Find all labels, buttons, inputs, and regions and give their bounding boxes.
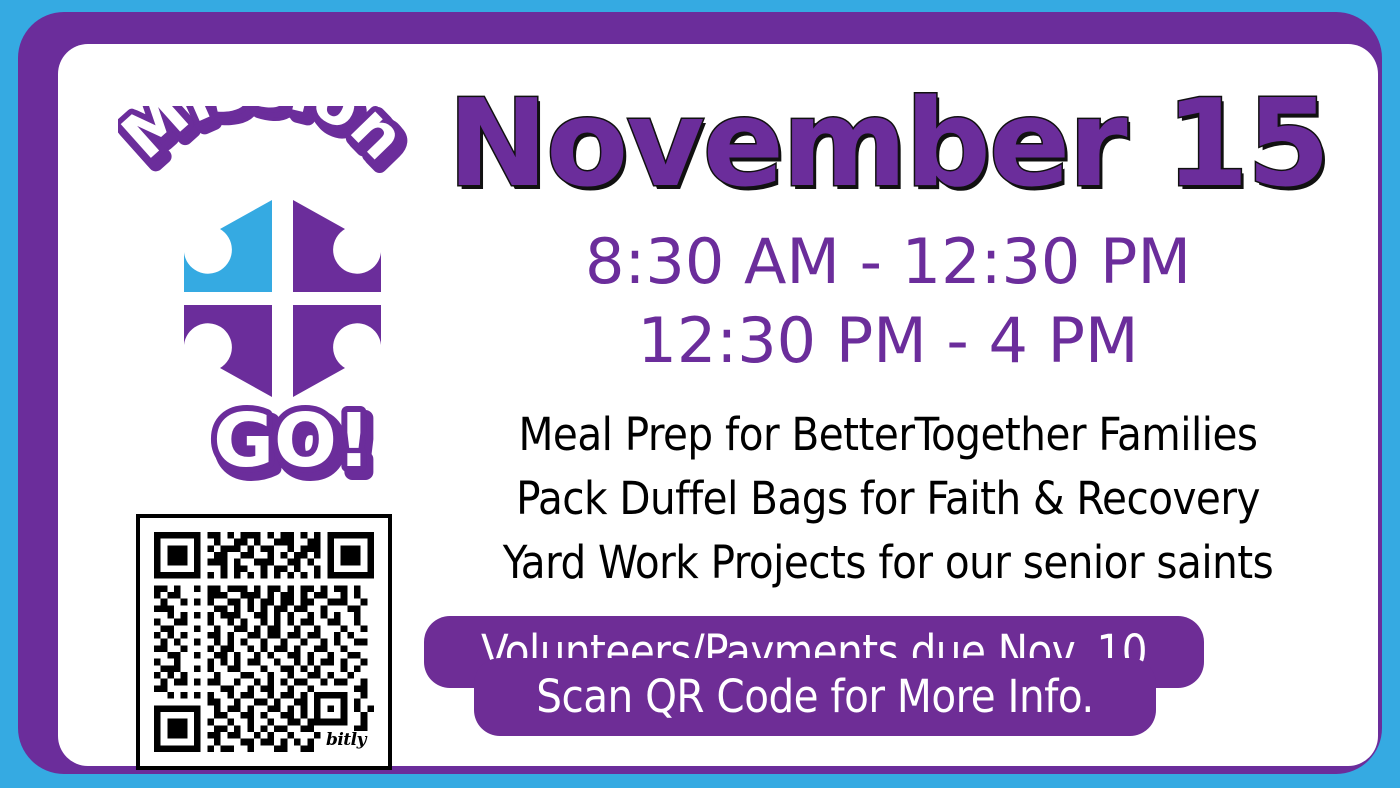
white-card: Mission Mission Mission <box>58 44 1378 766</box>
right-column: November 15 8:30 AM - 12:30 PM 12:30 PM … <box>408 82 1368 782</box>
banner-bar-bottom: Scan QR Code for More Info. <box>474 658 1156 736</box>
session-time-1: 8:30 AM - 12:30 PM <box>408 222 1368 301</box>
svg-text:Mission: Mission <box>118 106 408 173</box>
cross-arrows-icon <box>180 196 385 401</box>
activity-list: Meal Prep for BetterTogether Families Pa… <box>408 403 1368 596</box>
list-item: Meal Prep for BetterTogether Families <box>408 403 1368 467</box>
mission-go-logo: Mission Mission Mission <box>110 96 410 476</box>
flyer-canvas: Mission Mission Mission <box>0 0 1400 788</box>
qr-code[interactable]: bitly <box>136 514 392 770</box>
bitly-label: bitly <box>324 731 368 750</box>
session-time-2: 12:30 PM - 4 PM <box>408 301 1368 380</box>
callout-banner: Volunteers/Payments due Nov. 10 Scan QR … <box>408 616 1368 746</box>
purple-frame: Mission Mission Mission <box>18 12 1382 774</box>
banner-line-2: Scan QR Code for More Info. <box>536 674 1093 719</box>
list-item: Pack Duffel Bags for Faith & Recovery <box>408 467 1368 531</box>
go-wordmark: GO! GO! <box>202 394 382 486</box>
list-item: Yard Work Projects for our senior saints <box>408 531 1368 595</box>
page-title: November 15 <box>408 82 1368 208</box>
left-column: Mission Mission Mission <box>110 96 410 776</box>
svg-text:GO!: GO! <box>213 398 370 484</box>
